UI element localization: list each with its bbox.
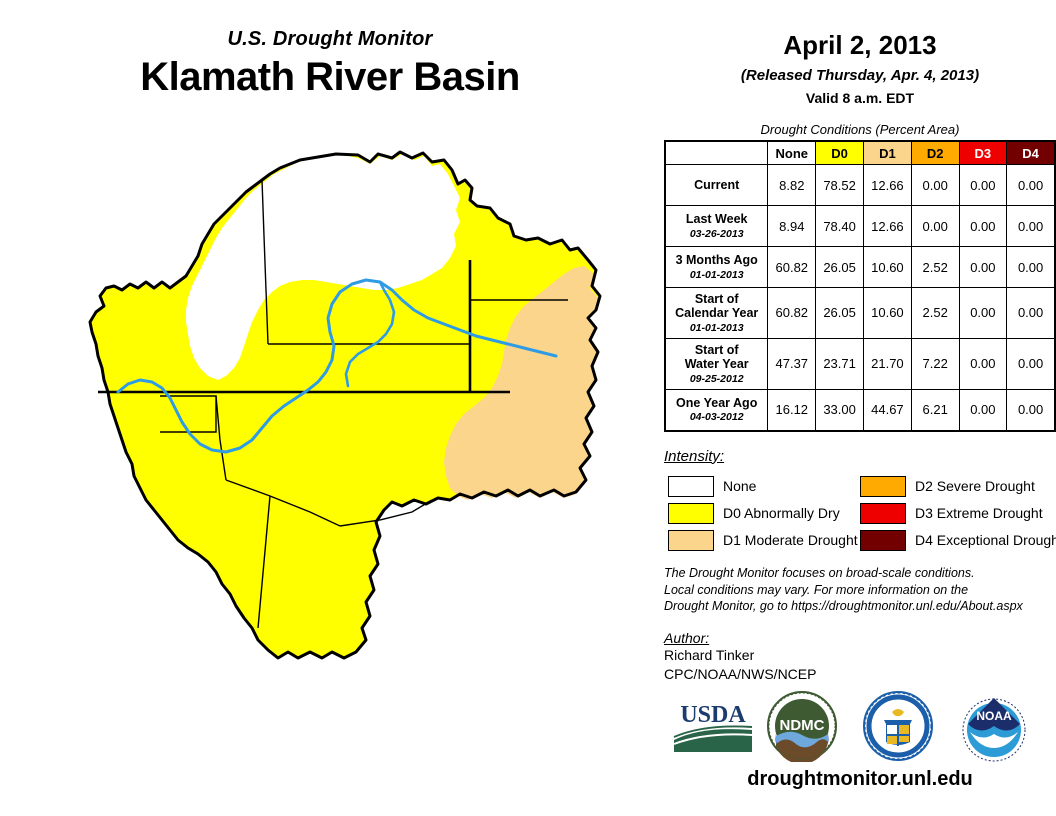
legend-label-d2: D2 Severe Drought	[915, 478, 1035, 494]
table-cell-d4: 0.00	[1007, 247, 1055, 288]
row-label-text: 3 Months Ago	[669, 253, 764, 267]
table-body: Current8.8278.5212.660.000.000.00Last We…	[665, 165, 1055, 431]
logo-row: USDA NDMC	[664, 690, 1056, 762]
column-header-d0: D0	[816, 141, 864, 165]
table-header-row: None D0 D1 D2 D3 D4	[665, 141, 1055, 165]
row-label: Start ofCalendar Year01-01-2013	[665, 288, 768, 339]
column-header-d3: D3	[959, 141, 1007, 165]
legend: None D0 Abnormally Dry D1 Moderate Droug…	[664, 473, 1056, 559]
footnote-line-2: Local conditions may vary. For more info…	[664, 582, 1056, 599]
table-cell-d3: 0.00	[959, 247, 1007, 288]
row-label-date: 01-01-2013	[669, 269, 764, 281]
row-label: Last Week03-26-2013	[665, 206, 768, 247]
row-label: 3 Months Ago01-01-2013	[665, 247, 768, 288]
table-cell-d2: 0.00	[911, 165, 959, 206]
valid-time: Valid 8 a.m. EDT	[664, 90, 1056, 106]
table-cell-d2: 6.21	[911, 389, 959, 431]
ndmc-logo-text: NDMC	[780, 717, 825, 734]
usda-logo[interactable]: USDA	[672, 696, 754, 759]
table-cell-none: 8.94	[768, 206, 816, 247]
table-cell-d0: 78.52	[816, 165, 864, 206]
row-label-text: Start ofWater Year	[669, 343, 764, 372]
table-cell-d2: 7.22	[911, 338, 959, 389]
legend-swatch-d4	[860, 530, 906, 551]
table-row: Start ofCalendar Year01-01-201360.8226.0…	[665, 288, 1055, 339]
row-label-text: One Year Ago	[669, 396, 764, 410]
legend-swatch-d1	[668, 530, 714, 551]
table-cell-d0: 26.05	[816, 288, 864, 339]
row-label-date: 04-03-2012	[669, 411, 764, 423]
legend-label-d4: D4 Exceptional Drought	[915, 532, 1056, 548]
legend-item-d2: D2 Severe Drought	[860, 473, 1056, 500]
noaa-logo[interactable]: NOAA	[958, 690, 1030, 767]
legend-item-d1: D1 Moderate Drought	[668, 527, 858, 554]
legend-item-none: None	[668, 473, 858, 500]
legend-swatch-none	[668, 476, 714, 497]
usda-logo-text: USDA	[680, 702, 746, 728]
legend-label-d1: D1 Moderate Drought	[723, 532, 858, 548]
table-cell-d2: 2.52	[911, 247, 959, 288]
table-cell-none: 60.82	[768, 288, 816, 339]
table-cell-d0: 23.71	[816, 338, 864, 389]
release-date: (Released Thursday, Apr. 4, 2013)	[664, 67, 1056, 84]
table-cell-d2: 2.52	[911, 288, 959, 339]
legend-swatch-d2	[860, 476, 906, 497]
legend-label-none: None	[723, 478, 756, 494]
ndmc-logo[interactable]: NDMC	[766, 690, 838, 767]
table-cell-d4: 0.00	[1007, 288, 1055, 339]
table-cell-d4: 0.00	[1007, 165, 1055, 206]
legend-label-d3: D3 Extreme Drought	[915, 505, 1043, 521]
row-label: Current	[665, 165, 768, 206]
row-label: One Year Ago04-03-2012	[665, 389, 768, 431]
drought-conditions-table: None D0 D1 D2 D3 D4 Current8.8278.5212.6…	[664, 140, 1056, 432]
table-cell-d3: 0.00	[959, 165, 1007, 206]
table-corner-cell	[665, 141, 768, 165]
table-cell-d0: 33.00	[816, 389, 864, 431]
footnote-line-1: The Drought Monitor focuses on broad-sca…	[664, 565, 1056, 582]
table-cell-none: 8.82	[768, 165, 816, 206]
legend-column-right: D2 Severe Drought D3 Extreme Drought D4 …	[860, 473, 1056, 554]
page-subtitle: U.S. Drought Monitor	[0, 28, 660, 51]
table-cell-d3: 0.00	[959, 206, 1007, 247]
author-affiliation: CPC/NOAA/NWS/NCEP	[664, 665, 1056, 684]
table-cell-none: 47.37	[768, 338, 816, 389]
table-row: Current8.8278.5212.660.000.000.00	[665, 165, 1055, 206]
table-cell-d3: 0.00	[959, 338, 1007, 389]
intensity-heading: Intensity:	[664, 448, 1056, 465]
table-cell-d0: 78.40	[816, 206, 864, 247]
table-cell-d1: 44.67	[864, 389, 912, 431]
author-name: Richard Tinker	[664, 646, 1056, 665]
map-svg	[40, 140, 660, 760]
table-cell-d4: 0.00	[1007, 206, 1055, 247]
column-header-none: None	[768, 141, 816, 165]
table-cell-d1: 10.60	[864, 247, 912, 288]
footnote: The Drought Monitor focuses on broad-sca…	[664, 565, 1056, 616]
row-label-text: Current	[669, 178, 764, 192]
footnote-line-3[interactable]: Drought Monitor, go to https://droughtmo…	[664, 598, 1056, 615]
legend-item-d3: D3 Extreme Drought	[860, 500, 1056, 527]
page-title: Klamath River Basin	[0, 55, 660, 100]
table-cell-d3: 0.00	[959, 389, 1007, 431]
table-row: One Year Ago04-03-201216.1233.0044.676.2…	[665, 389, 1055, 431]
column-header-d4: D4	[1007, 141, 1055, 165]
table-cell-d1: 12.66	[864, 165, 912, 206]
legend-item-d0: D0 Abnormally Dry	[668, 500, 858, 527]
column-header-d1: D1	[864, 141, 912, 165]
row-label: Start ofWater Year09-25-2012	[665, 338, 768, 389]
title-block: U.S. Drought Monitor Klamath River Basin	[0, 28, 660, 100]
table-header: None D0 D1 D2 D3 D4	[665, 141, 1055, 165]
table-cell-d1: 10.60	[864, 288, 912, 339]
noaa-logo-text: NOAA	[976, 709, 1012, 723]
row-label-date: 09-25-2012	[669, 373, 764, 385]
drought-map[interactable]	[40, 140, 660, 760]
row-label-date: 01-01-2013	[669, 322, 764, 334]
legend-item-d4: D4 Exceptional Drought	[860, 527, 1056, 554]
table-cell-d4: 0.00	[1007, 338, 1055, 389]
table-cell-d4: 0.00	[1007, 389, 1055, 431]
table-row: 3 Months Ago01-01-201360.8226.0510.602.5…	[665, 247, 1055, 288]
commerce-seal[interactable]	[862, 690, 934, 767]
row-label-text: Start ofCalendar Year	[669, 292, 764, 321]
row-label-text: Last Week	[669, 212, 764, 226]
legend-swatch-d3	[860, 503, 906, 524]
author-heading: Author:	[664, 630, 1056, 646]
table-cell-d3: 0.00	[959, 288, 1007, 339]
table-row: Last Week03-26-20138.9478.4012.660.000.0…	[665, 206, 1055, 247]
report-date: April 2, 2013	[664, 30, 1056, 61]
legend-label-d0: D0 Abnormally Dry	[723, 505, 840, 521]
table-cell-d2: 0.00	[911, 206, 959, 247]
column-header-d2: D2	[911, 141, 959, 165]
table-caption: Drought Conditions (Percent Area)	[664, 122, 1056, 137]
table-cell-d1: 12.66	[864, 206, 912, 247]
table-cell-d0: 26.05	[816, 247, 864, 288]
table-cell-d1: 21.70	[864, 338, 912, 389]
table-cell-none: 60.82	[768, 247, 816, 288]
legend-column-left: None D0 Abnormally Dry D1 Moderate Droug…	[668, 473, 858, 554]
legend-swatch-d0	[668, 503, 714, 524]
row-label-date: 03-26-2013	[669, 228, 764, 240]
table-cell-none: 16.12	[768, 389, 816, 431]
table-row: Start ofWater Year09-25-201247.3723.7121…	[665, 338, 1055, 389]
website-url[interactable]: droughtmonitor.unl.edu	[664, 768, 1056, 791]
right-panel: April 2, 2013 (Released Thursday, Apr. 4…	[664, 0, 1056, 816]
